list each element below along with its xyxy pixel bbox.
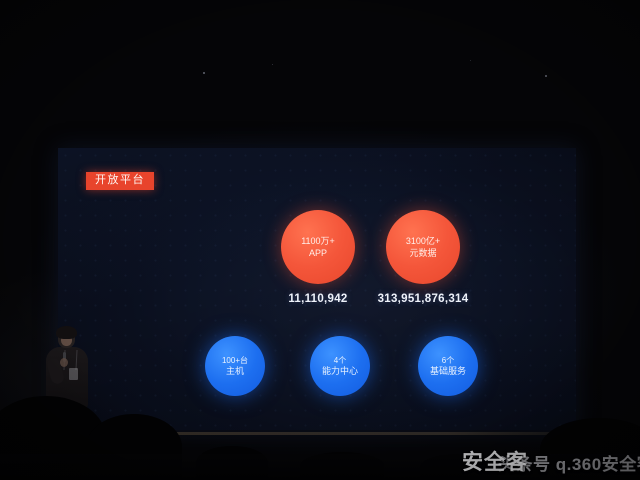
presenter-badge — [69, 368, 78, 380]
stage-light-speck — [203, 72, 205, 74]
bubble-hosts-line2: 主机 — [226, 366, 244, 377]
projection-screen: 开放平台 1100万+ APP 11,110,942 3100亿+ 元数据 31… — [58, 148, 576, 430]
bubble-app-line2: APP — [309, 247, 327, 259]
bubble-services-line1: 6个 — [442, 355, 454, 366]
stage-photo: 开放平台 1100万+ APP 11,110,942 3100亿+ 元数据 31… — [0, 0, 640, 480]
bubble-capability-centers: 4个 能力中心 — [310, 336, 370, 396]
metric-app-count: 11,110,942 — [258, 293, 378, 305]
bubble-hosts-line1: 100+台 — [222, 355, 248, 366]
bubble-metadata-line1: 3100亿+ — [406, 235, 440, 247]
foreground-floor — [0, 454, 640, 480]
presenter-hair — [56, 326, 77, 339]
bubble-metadata-line2: 元数据 — [409, 247, 436, 259]
section-tag-open-platform: 开放平台 — [86, 172, 154, 190]
bubble-basic-services: 6个 基础服务 — [418, 336, 478, 396]
bubble-app: 1100万+ APP — [281, 210, 355, 284]
stage-light-speck — [470, 60, 471, 61]
stage-light-speck — [545, 75, 547, 77]
bubble-hosts: 100+台 主机 — [205, 336, 265, 396]
metric-metadata-count: 313,951,876,314 — [363, 293, 483, 305]
bubble-metadata: 3100亿+ 元数据 — [386, 210, 460, 284]
metric-metadata: 3100亿+ 元数据 313,951,876,314 — [363, 210, 483, 305]
stage-light-speck — [272, 64, 273, 65]
bubble-services-line2: 基础服务 — [430, 366, 466, 377]
presenter-hand — [60, 358, 68, 367]
bubble-capability-line2: 能力中心 — [322, 366, 358, 377]
bubble-capability-line1: 4个 — [334, 355, 346, 366]
metric-app: 1100万+ APP 11,110,942 — [258, 210, 378, 305]
bubble-app-line1: 1100万+ — [301, 235, 335, 247]
